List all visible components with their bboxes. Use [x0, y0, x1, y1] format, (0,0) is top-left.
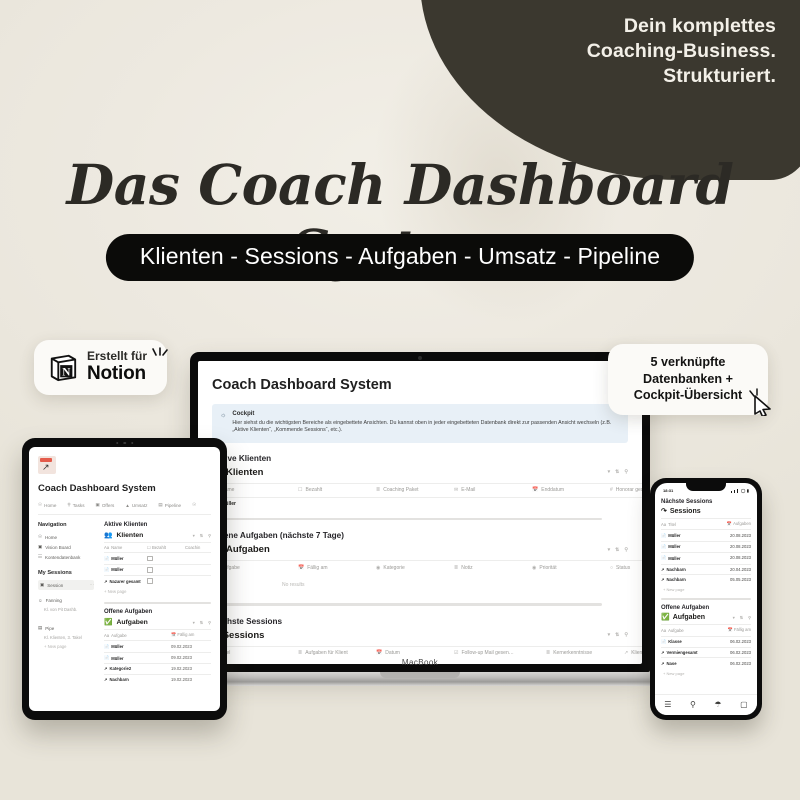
- badge-line-2: Datenbanken +: [622, 371, 754, 388]
- sort-icon[interactable]: ⇅: [615, 469, 619, 475]
- column-label: Honorar gesamt: [616, 487, 642, 493]
- checkbox-icon: ☐: [298, 487, 302, 493]
- status-icons: ◯ ▮: [731, 488, 749, 493]
- section-naechste-sessions: Nächste Sessions ↷ Sessions ▾ ⇅ ⚲: [212, 617, 628, 664]
- column-label: Priorität: [539, 565, 556, 571]
- sidebar-subitem[interactable]: Kl. von Pit Dashb.: [38, 605, 94, 613]
- section-aktive-klienten: Aktive Klienten 👥 Klienten ▾ ⇅ ⚲: [212, 454, 628, 521]
- lightbulb-icon: ☼: [220, 411, 226, 435]
- laptop-camera-icon: [418, 356, 422, 360]
- calendar-icon: 📅: [376, 650, 382, 656]
- text-icon: ≣: [546, 650, 550, 656]
- check-icon: ✅: [661, 613, 670, 621]
- sidebar-item-session[interactable]: ▣Session⋯: [38, 580, 94, 590]
- search-icon[interactable]: ⚲: [208, 533, 211, 538]
- laptop-mockup: Coach Dashboard System ☼ Cockpit Hier si…: [190, 352, 650, 686]
- column-label: Notiz: [461, 565, 472, 571]
- search-icon[interactable]: ⚲: [624, 547, 628, 553]
- calendar-icon: 📅: [727, 521, 732, 526]
- database-header[interactable]: ↷ Sessions: [661, 507, 751, 515]
- sidebar-item-fanning[interactable]: ☺Fanning: [38, 596, 94, 605]
- table-row[interactable]: 📄Müller20.08.2023: [661, 541, 751, 552]
- section-heading: Aktive Klienten: [104, 522, 211, 528]
- feature-pill: Klienten - Sessions - Aufgaben - Umsatz …: [106, 234, 694, 281]
- svg-text:N: N: [62, 366, 70, 378]
- section-heading: Offene Aufgaben: [661, 605, 751, 611]
- more-icon: ☉: [192, 502, 196, 508]
- laptop-screen: Coach Dashboard System ☼ Cockpit Hier si…: [190, 352, 650, 672]
- database-name: Klienten: [116, 532, 143, 539]
- people-icon: 👥: [104, 531, 112, 539]
- mouse-cursor-icon: [748, 388, 774, 416]
- table-row[interactable]: 📄Müller 09.02.2023: [104, 640, 211, 651]
- offers-icon: ▣: [96, 502, 100, 508]
- databases-badge: 5 verknüpfte Datenbanken + Cockpit-Übers…: [608, 344, 768, 415]
- chart-up-emoji-icon: [38, 456, 56, 474]
- tablet-tab-bar[interactable]: ☉Home ⚲Tasks ▣Offers ▲Umsatz ▤Pipeline ☉: [38, 502, 211, 515]
- filter-icon[interactable]: ▾: [608, 547, 611, 553]
- tab-pipeline[interactable]: ▤Pipeline: [158, 502, 181, 508]
- new-page-button[interactable]: + New page: [661, 584, 751, 592]
- people-icon: ☺: [38, 598, 43, 603]
- section-heading: Aktive Klienten: [212, 454, 628, 463]
- table-row[interactable]: 📄Müller 09.02.2023: [104, 652, 211, 663]
- tablet-notion-page[interactable]: Coach Dashboard System ☉Home ⚲Tasks ▣Off…: [29, 447, 220, 711]
- section-heading: Offene Aufgaben: [104, 609, 211, 615]
- table-row[interactable]: ↗Nazarer gesamt: [104, 575, 211, 586]
- phone-notch: [686, 483, 726, 491]
- horizontal-scrollbar[interactable]: [212, 518, 602, 521]
- column-label: Kernerkenntnisse: [553, 650, 592, 656]
- pipeline-icon: ▤: [158, 502, 162, 508]
- database-header[interactable]: ✅ Aufgaben ▾ ⇅ ⚲: [661, 613, 751, 621]
- db-icon: ☷: [38, 554, 42, 560]
- database-header[interactable]: ✅ Aufgaben ▾ ⇅ ⚲: [212, 544, 628, 555]
- column-label: Aufgaben für Klient: [305, 650, 348, 656]
- database-name: Aufgaben: [116, 619, 147, 626]
- database-header[interactable]: ✅ Aufgaben ▾ ⇅ ⚲: [104, 618, 211, 626]
- sort-icon[interactable]: ⇅: [615, 547, 619, 553]
- column-label: Bezahlt: [305, 487, 322, 493]
- row-checkbox[interactable]: [147, 578, 153, 584]
- row-checkbox[interactable]: [147, 556, 153, 562]
- column-label: Fällig am: [307, 565, 327, 571]
- filter-icon[interactable]: ▾: [608, 632, 611, 638]
- wifi-icon: ◯: [741, 488, 745, 493]
- session-icon: ↷: [661, 507, 667, 515]
- title-icon: Aa: [104, 545, 109, 550]
- phone-mockup: 18:31 ◯ ▮ Nächste Sessions ↷ Sessions Aa…: [650, 478, 762, 720]
- select-icon: ◉: [532, 565, 536, 571]
- table-header-row: AaName ☐Bezahlt ≣Coaching Paket ✉E-Mail …: [212, 483, 642, 497]
- phone-bottom-nav[interactable]: ☰ ⚲ ☂ ▢: [655, 694, 757, 715]
- empty-state: No results: [212, 574, 642, 596]
- row-checkbox[interactable]: [147, 567, 153, 573]
- calendar-icon: 📅: [298, 565, 304, 571]
- column-label: E-Mail: [461, 487, 475, 493]
- ellipsis-icon[interactable]: ⋯: [90, 582, 95, 588]
- laptop-notion-page[interactable]: Coach Dashboard System ☼ Cockpit Hier si…: [198, 361, 642, 664]
- new-page-button[interactable]: + New page: [104, 586, 211, 597]
- badge-subtitle: Erstellt für: [87, 350, 147, 363]
- page-icon: 📄: [661, 555, 666, 561]
- calendar-icon: 📅: [532, 487, 538, 493]
- page-icon: 📄: [661, 639, 666, 645]
- relation-icon: ↗: [104, 677, 108, 682]
- page-icon: 📄: [104, 567, 109, 573]
- table-row[interactable]: 📄Müller: [104, 552, 211, 563]
- tab-umsatz[interactable]: ▲Umsatz: [125, 502, 147, 508]
- phone-notion-page[interactable]: 18:31 ◯ ▮ Nächste Sessions ↷ Sessions Aa…: [655, 483, 757, 715]
- table-row[interactable]: 📄Müller20.08.2023: [661, 529, 751, 540]
- section-offene-aufgaben: Offene Aufgaben (nächste 7 Tage) ✅ Aufga…: [212, 531, 628, 606]
- sidebar-item-kontendatenbank[interactable]: ☷Kontendatenbank: [38, 552, 94, 562]
- eyebrow-line-3: Strukturiert.: [446, 64, 776, 89]
- home-icon: ☉: [38, 534, 42, 540]
- badge-line-3: Cockpit-Übersicht: [622, 387, 754, 404]
- relation-icon: ↗: [624, 650, 628, 656]
- calendar-icon: 📅: [171, 632, 176, 637]
- tablet-sensors-icon: [116, 442, 134, 445]
- callout-body: Hier siehst du die wichtigsten Bereiche …: [232, 420, 620, 435]
- search-icon[interactable]: ⚲: [624, 469, 628, 475]
- horizontal-scrollbar[interactable]: [212, 603, 602, 606]
- text-icon: ≣: [298, 650, 302, 656]
- database-name: Aufgaben: [226, 544, 270, 555]
- column-label: Klient: [631, 650, 642, 656]
- title-icon: Aa: [661, 628, 666, 633]
- table-row[interactable]: ↗Nase06.02.2023: [661, 657, 751, 667]
- tab-tasks[interactable]: ⚲Tasks: [67, 502, 84, 508]
- session-icon: ▣: [40, 582, 44, 588]
- callout-title: Cockpit: [232, 411, 620, 417]
- new-page-button[interactable]: + New page: [661, 668, 751, 676]
- title-icon: Aa: [104, 633, 109, 638]
- view-controls[interactable]: ▾ ⇅ ⚲: [193, 620, 211, 625]
- eyebrow-line-1: Dein komplettes: [446, 14, 776, 39]
- database-name: Klienten: [226, 467, 263, 478]
- filter-icon[interactable]: ▾: [193, 533, 195, 538]
- horizontal-scrollbar[interactable]: [104, 602, 211, 604]
- page-icon: 📄: [104, 556, 109, 562]
- eyebrow-text: Dein komplettes Coaching-Business. Struk…: [446, 14, 776, 89]
- tablet-section-aktive-klienten: Aktive Klienten 👥 Klienten ▾ ⇅ ⚲ AaName: [104, 522, 211, 597]
- table-row[interactable]: 📄Müller: [212, 497, 642, 511]
- table-header-row: AaAufgabe 📅 Fällig am: [661, 624, 751, 635]
- page-icon: 📄: [104, 655, 109, 661]
- table-row[interactable]: ↗Nachbarn 19.02.2023: [104, 674, 211, 684]
- home-icon: ☉: [38, 502, 42, 508]
- cockpit-callout: ☼ Cockpit Hier siehst du die wichtigsten…: [212, 404, 628, 443]
- eyebrow-line-2: Coaching-Business.: [446, 39, 776, 64]
- column-label: Coaching Paket: [383, 487, 418, 493]
- checkbox-icon: ☐: [147, 545, 151, 550]
- checkbox-icon: ☑: [454, 650, 458, 656]
- section-heading: Nächste Sessions: [661, 499, 751, 505]
- section-heading: Offene Aufgaben (nächste 7 Tage): [212, 531, 628, 540]
- search-icon: ⚲: [67, 502, 70, 508]
- search-icon[interactable]: ⚲: [690, 701, 696, 709]
- database-name: Aufgaben: [673, 614, 705, 621]
- table-row[interactable]: ↗Nachbarn05.05.2023: [661, 574, 751, 584]
- page-icon: 📄: [661, 544, 666, 550]
- relation-icon: ↗: [661, 650, 665, 655]
- horizontal-scrollbar[interactable]: [661, 598, 751, 600]
- sidebar-subitem[interactable]: Kl. Klienten, 3. Takel: [38, 633, 94, 641]
- view-controls[interactable]: ▾ ⇅ ⚲: [193, 533, 211, 538]
- view-controls[interactable]: ▾ ⇅ ⚲: [608, 632, 628, 638]
- database-name: Sessions: [670, 508, 701, 515]
- device-label: MacBook: [402, 658, 438, 667]
- table-row[interactable]: ↗Kategorie2 19.02.2023: [104, 663, 211, 673]
- database-header[interactable]: 👥 Klienten ▾ ⇅ ⚲: [104, 531, 211, 539]
- database-name: Sessions: [223, 630, 265, 641]
- new-page-icon[interactable]: ▢: [740, 701, 748, 709]
- section-heading: Nächste Sessions: [212, 617, 628, 626]
- page-icon: 📄: [104, 644, 109, 650]
- table-header-row: AaName ☐ Bezahlt Coachin: [104, 542, 211, 552]
- list-icon[interactable]: ☰: [664, 701, 671, 709]
- laptop-page-title: Coach Dashboard System: [212, 377, 628, 393]
- table-header-row: AaTitel 📅 Aufgaben: [661, 518, 751, 529]
- filter-icon[interactable]: ▾: [733, 615, 735, 620]
- poster-canvas: Dein komplettes Coaching-Business. Struk…: [0, 0, 800, 800]
- badge-line-1: 5 verknüpfte: [622, 354, 754, 371]
- search-icon[interactable]: ⚲: [208, 620, 211, 625]
- sidebar-group-title: Navigation: [38, 522, 94, 528]
- sidebar-group-title: My Sessions: [38, 570, 94, 576]
- sort-icon[interactable]: ⇅: [615, 632, 619, 638]
- table-row[interactable]: ↗Nachbarn20.04.2023: [661, 564, 751, 574]
- status-icon: ○: [610, 565, 613, 571]
- select-icon: ≣: [376, 487, 380, 493]
- filter-icon[interactable]: ▾: [608, 469, 611, 475]
- table-header-row: AaAufgabe 📅 Fällig am: [104, 629, 211, 640]
- column-label: Follow-up Mail gesen…: [461, 650, 513, 656]
- sidebar-item-vision-board[interactable]: ▣Vision Board: [38, 542, 94, 552]
- table-header-row: AaAufgabe 📅Fällig am ◉Kategorie ≣Notiz ◉…: [212, 560, 642, 574]
- sidebar-new-page[interactable]: + New page: [38, 641, 94, 649]
- tablet-section-offene-aufgaben: Offene Aufgaben ✅ Aufgaben ▾ ⇅ ⚲ AaAufga…: [104, 609, 211, 684]
- database-header[interactable]: ↷ Sessions ▾ ⇅ ⚲: [212, 630, 628, 641]
- search-icon[interactable]: ⚲: [624, 632, 628, 638]
- column-label: Kategorie: [383, 565, 404, 571]
- table-row[interactable]: 📄Müller20.08.2023: [661, 552, 751, 563]
- search-icon[interactable]: ⚲: [748, 615, 751, 620]
- sort-icon[interactable]: ⇅: [200, 533, 203, 538]
- number-icon: #: [610, 487, 613, 493]
- tablet-mockup: Coach Dashboard System ☉Home ⚲Tasks ▣Off…: [22, 438, 227, 720]
- sidebar-item-home[interactable]: ☉Home: [38, 532, 94, 542]
- sort-icon[interactable]: ⇅: [740, 615, 743, 620]
- board-icon: ▣: [38, 544, 42, 550]
- notion-logo-icon: N: [48, 352, 78, 382]
- sparkle-icon: [150, 347, 170, 365]
- check-icon: ✅: [104, 618, 112, 626]
- tab-home[interactable]: ☉Home: [38, 502, 56, 508]
- laptop-notch: [380, 672, 460, 678]
- filter-icon[interactable]: ▾: [193, 620, 195, 625]
- inbox-icon[interactable]: ☂: [714, 701, 721, 709]
- mail-icon: ✉: [454, 487, 458, 493]
- notion-badge: N Erstellt für Notion: [34, 340, 167, 395]
- text-icon: ≣: [454, 565, 458, 571]
- view-controls[interactable]: ▾ ⇅ ⚲: [608, 547, 628, 553]
- table-row[interactable]: 📄Klasse06.02.2023: [661, 636, 751, 647]
- table-row[interactable]: ↗Vermiengesamt06.02.2023: [661, 647, 751, 657]
- chart-icon: ▲: [125, 503, 130, 508]
- relation-icon: ↗: [104, 666, 108, 671]
- database-header[interactable]: 👥 Klienten ▾ ⇅ ⚲: [212, 467, 628, 478]
- battery-icon: ▮: [747, 488, 749, 493]
- column-label: Datum: [385, 650, 400, 656]
- select-icon: ◉: [376, 565, 380, 571]
- column-label: Enddatum: [541, 487, 564, 493]
- status-time: 18:31: [663, 488, 673, 493]
- sort-icon[interactable]: ⇅: [200, 620, 203, 625]
- calendar-icon: 📅: [728, 627, 733, 632]
- relation-icon: ↗: [104, 579, 108, 584]
- column-label: Status: [616, 565, 630, 571]
- sidebar-item-pipe[interactable]: ▤Pipe: [38, 623, 94, 633]
- title-icon: Aa: [661, 522, 666, 527]
- page-icon: 📄: [661, 533, 666, 539]
- relation-icon: ↗: [661, 577, 665, 582]
- pipeline-icon: ▤: [38, 625, 42, 631]
- table-row[interactable]: 📄Müller: [104, 564, 211, 575]
- tab-more[interactable]: ☉: [192, 502, 196, 508]
- badge-title: Notion: [87, 363, 147, 384]
- view-controls[interactable]: ▾ ⇅ ⚲: [608, 469, 628, 475]
- tablet-sidebar[interactable]: Navigation ☉Home ▣Vision Board ☷Kontenda…: [38, 522, 94, 684]
- tablet-main: Aktive Klienten 👥 Klienten ▾ ⇅ ⚲ AaName: [104, 522, 211, 684]
- relation-icon: ↗: [661, 661, 665, 666]
- tab-offers[interactable]: ▣Offers: [96, 502, 115, 508]
- relation-icon: ↗: [661, 567, 665, 572]
- tablet-page-title: Coach Dashboard System: [38, 483, 211, 494]
- view-controls[interactable]: ▾ ⇅ ⚲: [733, 615, 751, 620]
